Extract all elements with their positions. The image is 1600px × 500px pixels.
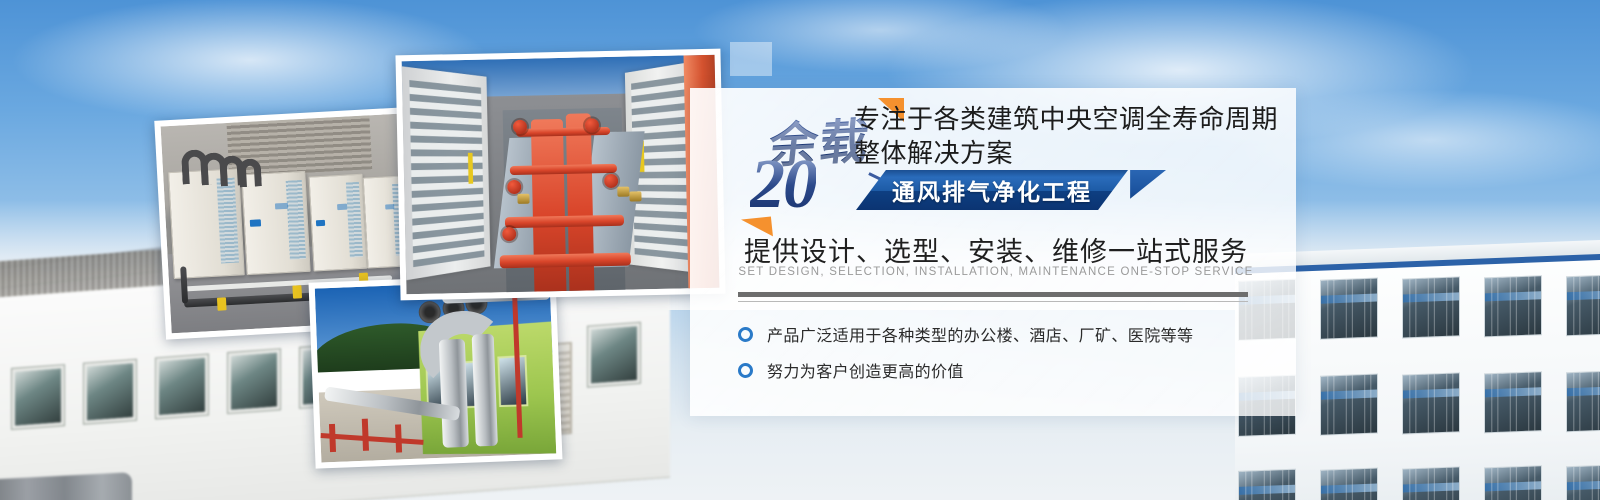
list-item: 产品广泛适用于各种类型的办公楼、酒店、厂矿、医院等等: [738, 316, 1278, 352]
ribbon-label: 通风排气净化工程: [856, 170, 1128, 210]
divider-thick: [738, 292, 1248, 297]
subheadline-en: SET DESIGN, SELECTION, INSTALLATION, MAI…: [726, 266, 1266, 278]
bullet-label: 产品广泛适用于各种类型的办公楼、酒店、厂矿、医院等等: [767, 322, 1193, 346]
subheadline-cn: 提供设计、选型、安装、维修一站式服务: [726, 230, 1266, 269]
photo-chilled-water-piping: [395, 49, 725, 301]
circle-bullet-icon: [738, 327, 753, 342]
decorative-square: [730, 42, 772, 76]
bullet-list: 产品广泛适用于各种类型的办公楼、酒店、厂矿、医院等等 努力为客户创造更高的价值: [738, 316, 1278, 388]
divider-thin: [738, 301, 1248, 302]
list-item: 努力为客户创造更高的价值: [738, 352, 1278, 388]
category-ribbon: 通风排气净化工程: [856, 170, 1128, 210]
content-panel: 余载 20 专注于各类建筑中央空调全寿命周期整体解决方案 通风排气净化工程 提供…: [690, 88, 1296, 416]
photo-rooftop-ductwork: [309, 273, 563, 468]
hero-banner: 余载 20 专注于各类建筑中央空调全寿命周期整体解决方案 通风排气净化工程 提供…: [0, 0, 1600, 500]
circle-bullet-icon: [738, 363, 753, 378]
headline: 专注于各类建筑中央空调全寿命周期整体解决方案: [854, 102, 1278, 171]
bullet-label: 努力为客户创造更高的价值: [767, 358, 964, 382]
years-number: 20: [750, 150, 816, 220]
